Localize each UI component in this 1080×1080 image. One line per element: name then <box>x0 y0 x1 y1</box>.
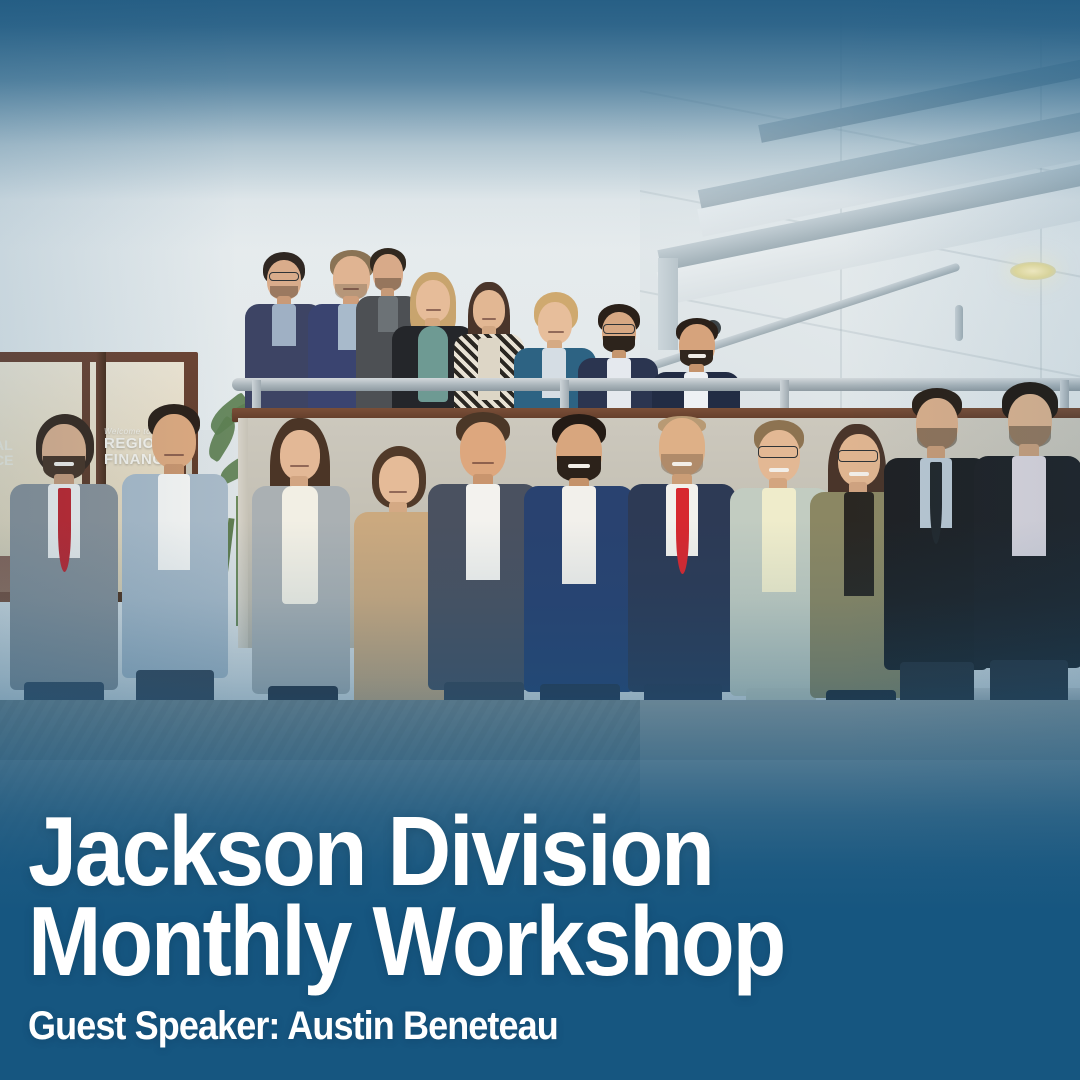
guest-speaker-line: Guest Speaker: Austin Beneteau <box>28 1006 928 1046</box>
page-title: Jackson Division Monthly Workshop <box>28 806 928 986</box>
poster-text-block: Jackson Division Monthly Workshop Guest … <box>28 806 1028 1046</box>
poster-canvas: Welcome to REGIONAL FINANCE AL CE <box>0 0 1080 1080</box>
